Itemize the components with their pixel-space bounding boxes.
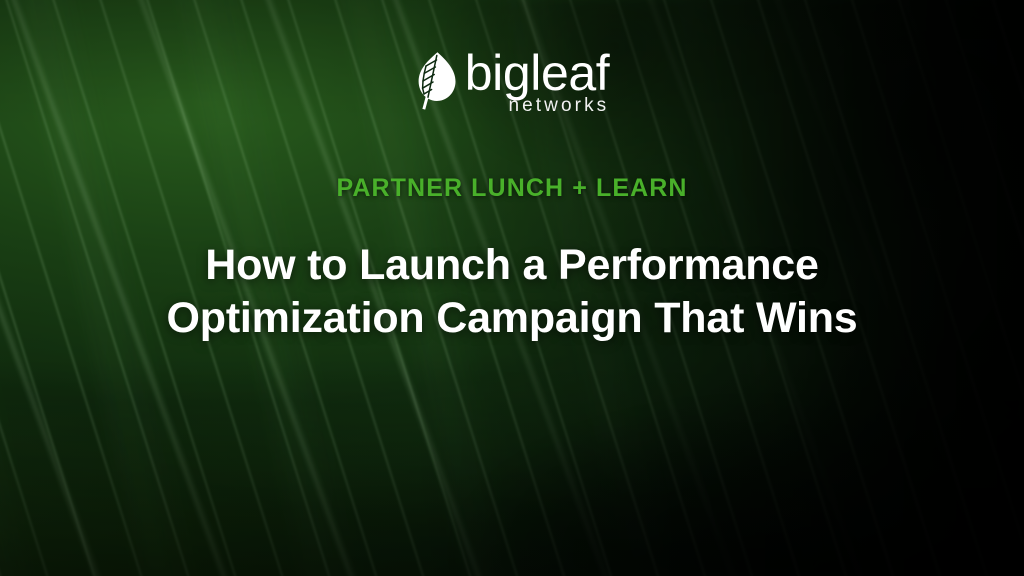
title-slide: bigleaf networks PARTNER LUNCH + LEARN H… — [0, 0, 1024, 576]
slide-content: bigleaf networks PARTNER LUNCH + LEARN H… — [0, 0, 1024, 576]
logo-word-bigleaf: bigleaf — [465, 46, 610, 98]
logo-wordmark: bigleaf networks — [465, 46, 610, 112]
logo-word-networks: networks — [508, 96, 609, 115]
eyebrow-label: PARTNER LUNCH + LEARN — [336, 174, 687, 203]
page-title: How to Launch a Performance Optimization… — [167, 239, 858, 345]
bigleaf-logo: bigleaf networks — [415, 46, 610, 114]
leaf-icon — [415, 46, 459, 111]
page-title-line-1: How to Launch a Performance — [167, 239, 858, 292]
page-title-line-2: Optimization Campaign That Wins — [167, 292, 858, 345]
